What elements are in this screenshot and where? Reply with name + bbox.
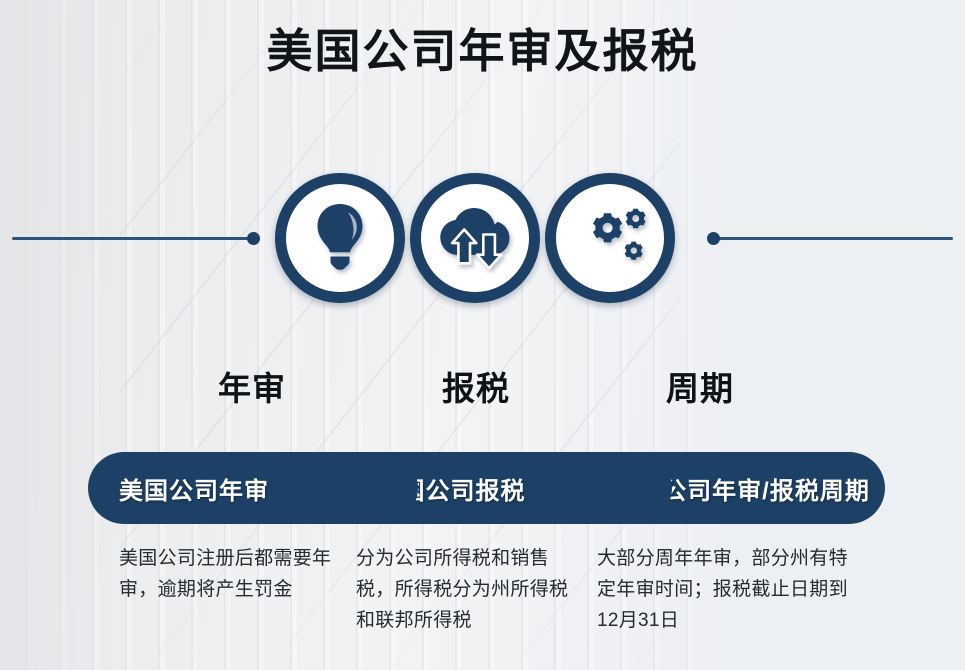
cloud-upload-download-icon bbox=[437, 204, 513, 272]
body-text-annual-review: 美国公司注册后都需要年审，逾期将产生罚金 bbox=[119, 543, 347, 605]
icon-circle-annual-review[interactable] bbox=[275, 173, 405, 303]
ribbon-label-annual-review: 美国公司年审 bbox=[88, 471, 418, 506]
section-heading-annual-review: 年审 bbox=[142, 367, 362, 411]
ribbon-banner: 美国公司年审/报税周期 美国公司报税 美国公司年审 bbox=[88, 452, 885, 524]
body-text-cycle: 大部分周年年审，部分州有特定年审时间；报税截止日期到12月31日 bbox=[597, 543, 849, 636]
icon-circle-tax-filing[interactable] bbox=[410, 173, 540, 303]
background-left-wash bbox=[0, 0, 120, 670]
lightbulb-icon bbox=[309, 202, 371, 274]
timeline-dot-left bbox=[247, 232, 260, 245]
timeline-dot-right bbox=[707, 232, 720, 245]
gears-icon bbox=[571, 203, 649, 273]
icon-circle-cycle[interactable] bbox=[545, 173, 675, 303]
section-heading-cycle: 周期 bbox=[590, 367, 810, 411]
timeline-rail-right bbox=[713, 237, 953, 240]
page-title: 美国公司年审及报税 bbox=[0, 22, 965, 80]
body-text-tax-filing: 分为公司所得税和销售税，所得税分为州所得税和联邦所得税 bbox=[356, 543, 584, 636]
section-heading-tax-filing: 报税 bbox=[366, 367, 586, 411]
timeline-rail-left bbox=[12, 237, 254, 240]
ribbon-segment-annual-review[interactable]: 美国公司年审 bbox=[88, 452, 418, 524]
infographic-canvas: 美国公司年审及报税 bbox=[0, 0, 965, 670]
